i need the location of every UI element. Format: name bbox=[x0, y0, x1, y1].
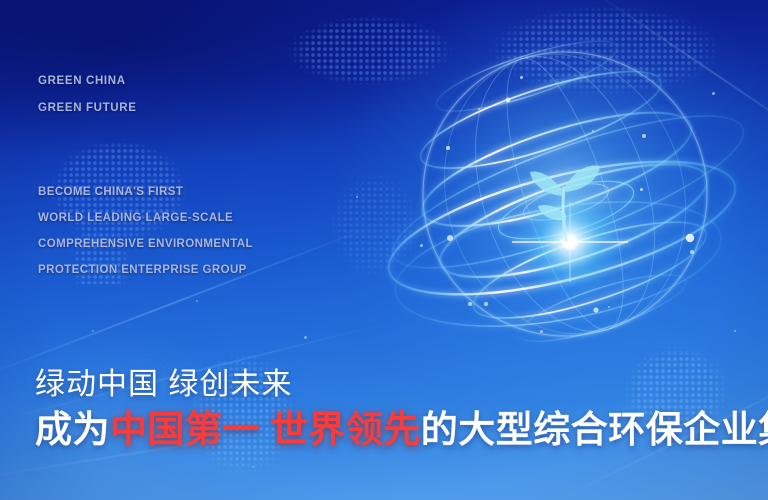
eyebrow-line-1: GREEN CHINA bbox=[38, 75, 126, 87]
headline-suffix: 的大型综合环保企业集团 bbox=[421, 409, 768, 450]
headline-prefix: 成为 bbox=[35, 409, 110, 450]
tagline-line-1: BECOME CHINA'S FIRST bbox=[38, 186, 183, 198]
promotional-banner: GREEN CHINA GREEN FUTURE BECOME CHINA'S … bbox=[0, 0, 768, 500]
tagline-line-3: COMPREHENSIVE ENVIRONMENTAL bbox=[38, 238, 253, 250]
headline-line-2: 成为中国第一 世界领先的大型综合环保企业集团 bbox=[35, 406, 755, 454]
eyebrow-line-2: GREEN FUTURE bbox=[38, 102, 137, 114]
tagline-line-4: PROTECTION ENTERPRISE GROUP bbox=[38, 264, 247, 276]
banner-copy: GREEN CHINA GREEN FUTURE BECOME CHINA'S … bbox=[0, 0, 768, 500]
tagline-line-2: WORLD LEADING LARGE-SCALE bbox=[38, 212, 233, 224]
headline-accent: 中国第一 世界领先 bbox=[110, 409, 421, 450]
headline-line-1: 绿动中国 绿创未来 bbox=[35, 366, 755, 404]
headline-block: 绿动中国 绿创未来 成为中国第一 世界领先的大型综合环保企业集团 bbox=[35, 366, 755, 454]
